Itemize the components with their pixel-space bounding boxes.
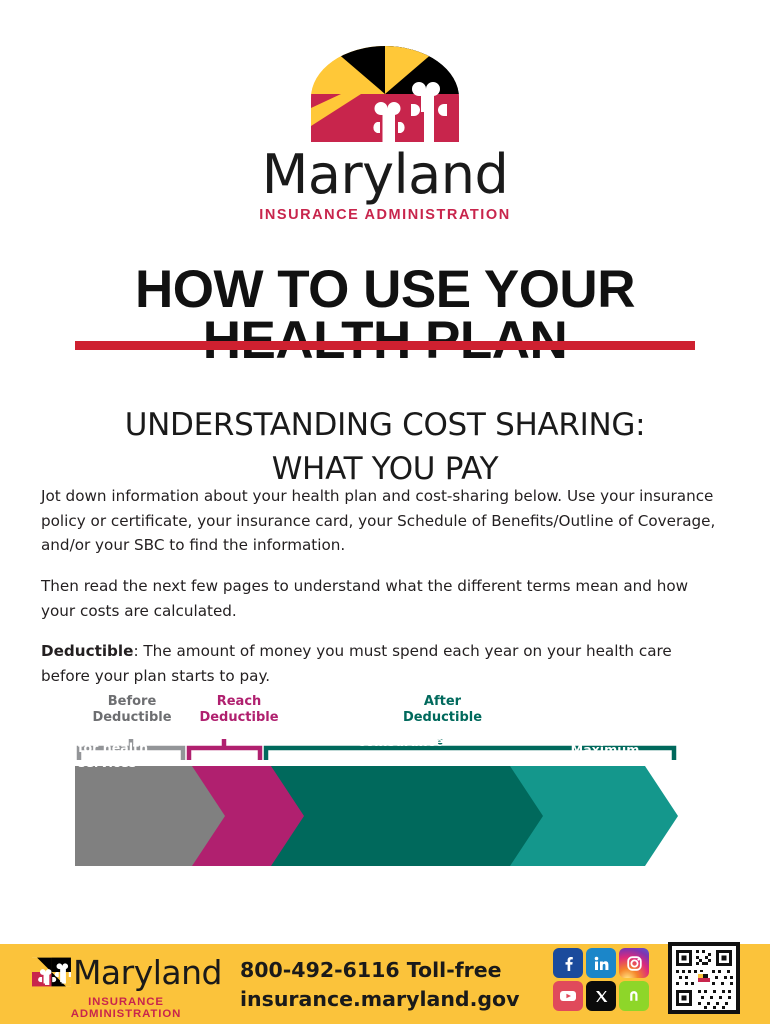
page-title: HOW TO USE YOUR HEALTH PLAN [0,264,770,367]
nextdoor-icon[interactable] [619,981,649,1011]
instagram-icon[interactable] [619,948,649,978]
bracket-label-line-2: Deductible [76,710,188,726]
bracket-lines [0,738,770,762]
bracket-label-line-1: Before [76,694,188,710]
bracket-label-before-deductible: Before Deductible [76,694,188,726]
facebook-icon[interactable] [553,948,583,978]
page-subtitle-line-1: UNDERSTANDING COST SHARING: [0,403,770,447]
logo-subtitle: INSURANCE ADMINISTRATION [0,207,770,223]
deductible-term: Deductible [41,642,133,660]
paragraph-deductible: Deductible: The amount of money you must… [41,639,721,688]
linkedin-icon[interactable] [586,948,616,978]
bracket-label-line-2: Deductible [183,710,295,726]
maryland-flag-dome-icon [311,46,459,142]
social-links [553,948,649,1012]
paragraph-next-pages: Then read the next few pages to understa… [41,574,721,623]
bracket-label-line-2: Deductible [370,710,515,726]
footer-contact: 800-492-6116 Toll-free insurance.marylan… [240,956,520,1014]
title-divider [75,341,695,350]
x-twitter-icon[interactable] [586,981,616,1011]
bracket-label-line-1: After [370,694,515,710]
body-copy: Jot down information about your health p… [41,484,721,704]
footer-logo: Maryland INSURANCE ADMINISTRATION [32,952,222,1014]
chevron-bar [0,766,770,866]
footer-logo-subtitle: INSURANCE ADMINISTRATION [32,996,220,1020]
deductible-definition: : The amount of money you must spend eac… [41,642,672,685]
page-title-line-1: HOW TO USE YOUR [0,264,770,315]
cost-sharing-diagram: Before Deductible Reach Deductible After… [0,694,770,884]
footer-phone[interactable]: 800-492-6116 Toll-free [240,956,520,985]
bracket-labels: Before Deductible Reach Deductible After… [0,694,770,738]
youtube-icon[interactable] [553,981,583,1011]
bracket-label-line-1: Reach [183,694,295,710]
footer-website[interactable]: insurance.maryland.gov [240,985,520,1014]
maryland-flag-badge-icon [32,952,71,992]
bracket-label-after-deductible: After Deductible [370,694,515,726]
page-subtitle: UNDERSTANDING COST SHARING: WHAT YOU PAY [0,403,770,492]
footer-logo-wordmark: Maryland [73,956,222,989]
brand-logo: Maryland INSURANCE ADMINISTRATION [0,46,770,223]
qr-code-icon[interactable] [668,940,740,1016]
bracket-label-reach-deductible: Reach Deductible [183,694,295,726]
logo-wordmark: Maryland [0,148,770,202]
footer-bar: Maryland INSURANCE ADMINISTRATION 800-49… [0,944,770,1024]
paragraph-intro: Jot down information about your health p… [41,484,721,558]
